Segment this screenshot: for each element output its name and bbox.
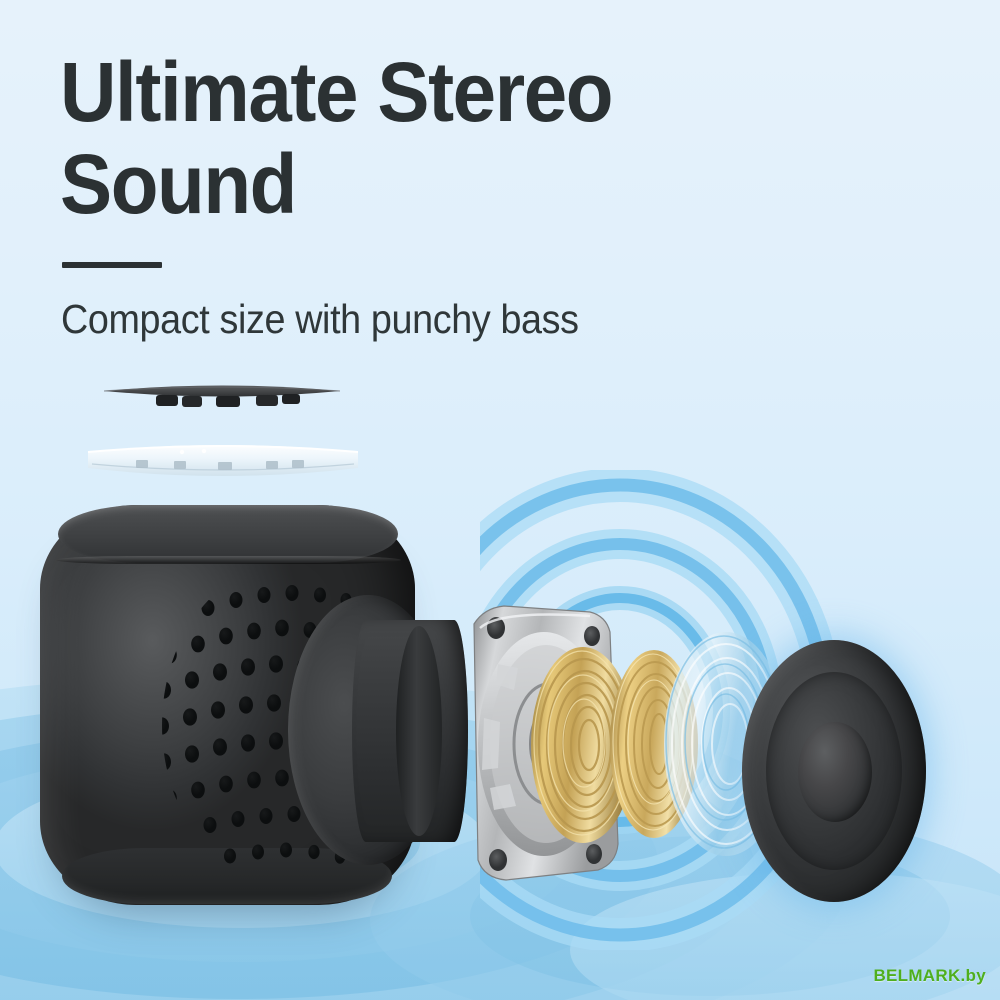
speaker-cone-dome [798,722,872,822]
title-divider [62,262,162,268]
product-marketing-poster: Ultimate Stereo Sound Compact size with … [0,0,1000,1000]
page-title: Ultimate Stereo Sound [60,46,823,230]
speaker-top-plate [98,378,346,414]
watermark-label: BELMARK.by [873,966,986,986]
translucent-light-ring [78,438,368,486]
voice-coil-ring [396,626,442,836]
speaker-body-top [58,505,398,563]
page-subtitle: Compact size with punchy bass [61,295,852,343]
